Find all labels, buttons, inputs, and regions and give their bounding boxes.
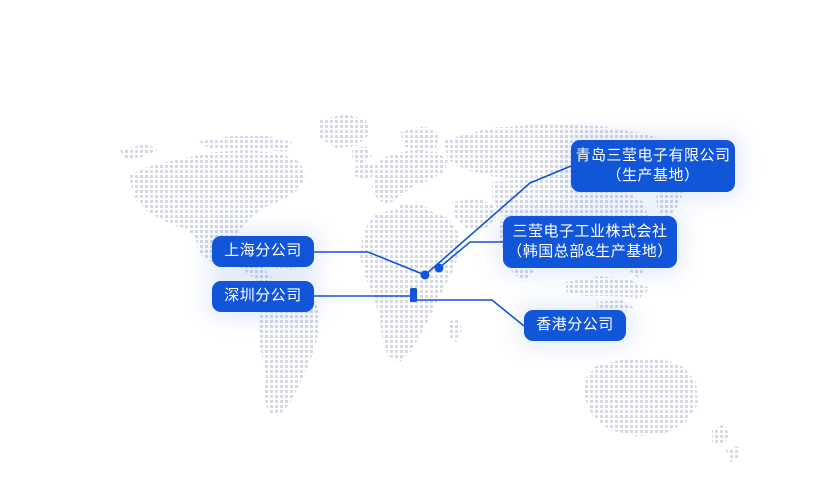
callout-korea-line1: 三莹电子工业株式会社	[512, 222, 667, 242]
callout-shanghai-label: 上海分公司	[224, 241, 302, 261]
callout-shenzhen[interactable]: 深圳分公司	[212, 281, 314, 312]
connector-lines	[0, 0, 824, 480]
map-marker-korea	[435, 264, 444, 273]
connector-hongkong	[414, 300, 524, 326]
callout-qingdao-line1: 青岛三莹电子有限公司	[575, 146, 730, 166]
callout-korea-hq[interactable]: 三莹电子工业株式会社 （韩国总部&生产基地）	[503, 216, 677, 268]
callout-shanghai[interactable]: 上海分公司	[212, 236, 314, 267]
callout-shenzhen-label: 深圳分公司	[224, 286, 302, 306]
map-marker-qingdao	[421, 271, 430, 280]
map-marker-shenzhen-hongkong	[410, 288, 417, 302]
world-map-infographic: 青岛三莹电子有限公司 （生产基地） 三莹电子工业株式会社 （韩国总部&生产基地）…	[0, 0, 824, 480]
callout-hongkong[interactable]: 香港分公司	[524, 310, 626, 341]
connector-shanghai	[314, 252, 425, 275]
callout-korea-line2: （韩国总部&生产基地）	[507, 242, 673, 262]
callout-qingdao[interactable]: 青岛三莹电子有限公司 （生产基地）	[571, 140, 735, 192]
callout-hongkong-label: 香港分公司	[536, 315, 614, 335]
callout-qingdao-line2: （生产基地）	[606, 166, 699, 186]
